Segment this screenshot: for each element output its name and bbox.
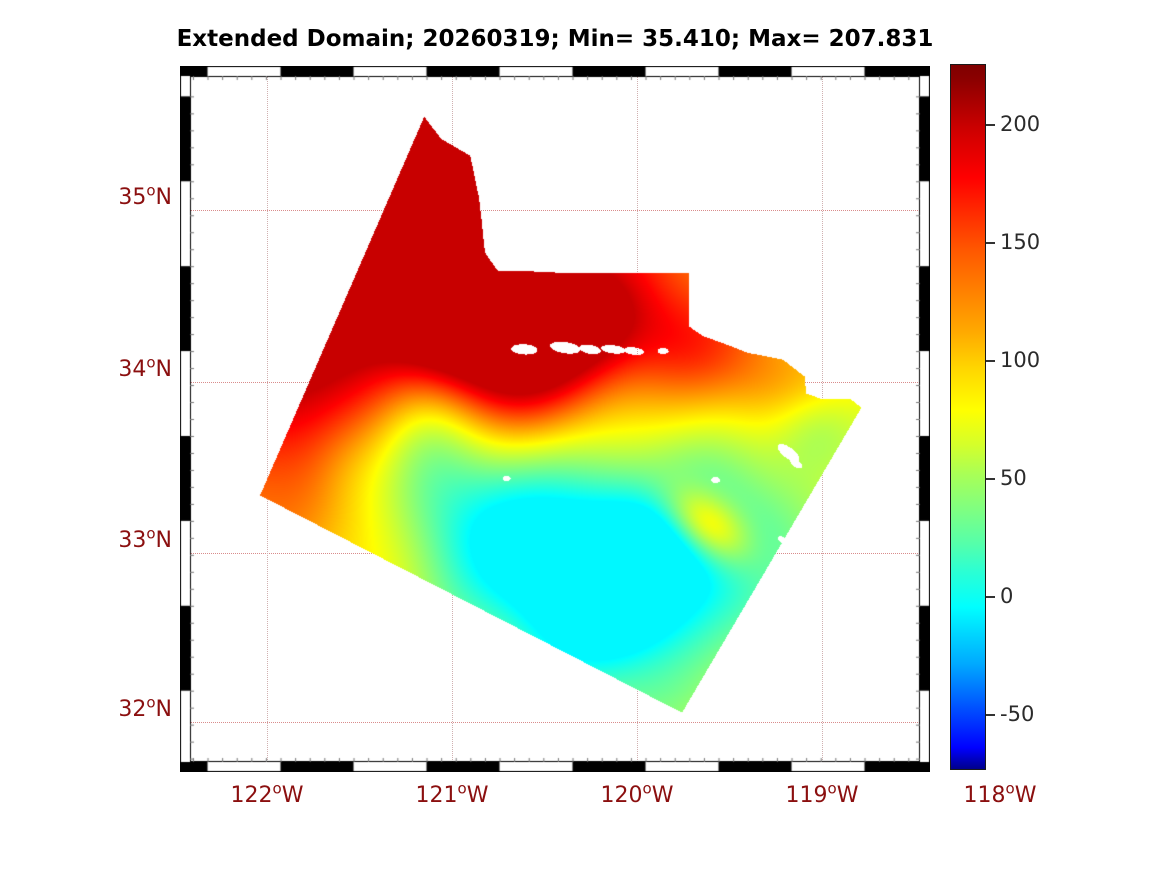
x-tick-label-118: 118oW: [945, 783, 1055, 808]
colorbar-label-100: 100: [1000, 348, 1040, 372]
colorbar: 200150100500-50: [950, 64, 990, 772]
x-tick-label-122: 122oW: [212, 783, 322, 808]
colorbar-tick-50: [986, 478, 995, 480]
x-tick-label-121: 121oW: [397, 783, 507, 808]
y-tick-label-35: 35oN: [0, 185, 172, 210]
colorbar-tick-0: [986, 596, 995, 598]
x-tick-label-120: 120oW: [582, 783, 692, 808]
y-tick-label-34: 34oN: [0, 357, 172, 382]
x-tick-label-119: 119oW: [767, 783, 877, 808]
colorbar-tick-100: [986, 360, 995, 362]
colorbar-label-0: 0: [1000, 584, 1013, 608]
map-axes: [180, 66, 930, 772]
colorbar-tick--50: [986, 714, 995, 716]
map-border-frame: [180, 66, 930, 772]
figure-canvas: Extended Domain; 20260319; Min= 35.410; …: [0, 0, 1167, 875]
colorbar-label-200: 200: [1000, 112, 1040, 136]
colorbar-tick-200: [986, 124, 995, 126]
y-tick-label-32: 32oN: [0, 697, 172, 722]
colorbar-label--50: -50: [1000, 702, 1034, 726]
colorbar-label-150: 150: [1000, 230, 1040, 254]
colorbar-gradient: [950, 64, 986, 770]
figure-title: Extended Domain; 20260319; Min= 35.410; …: [0, 26, 1110, 52]
y-tick-label-33: 33oN: [0, 528, 172, 553]
colorbar-label-50: 50: [1000, 466, 1027, 490]
colorbar-tick-150: [986, 242, 995, 244]
